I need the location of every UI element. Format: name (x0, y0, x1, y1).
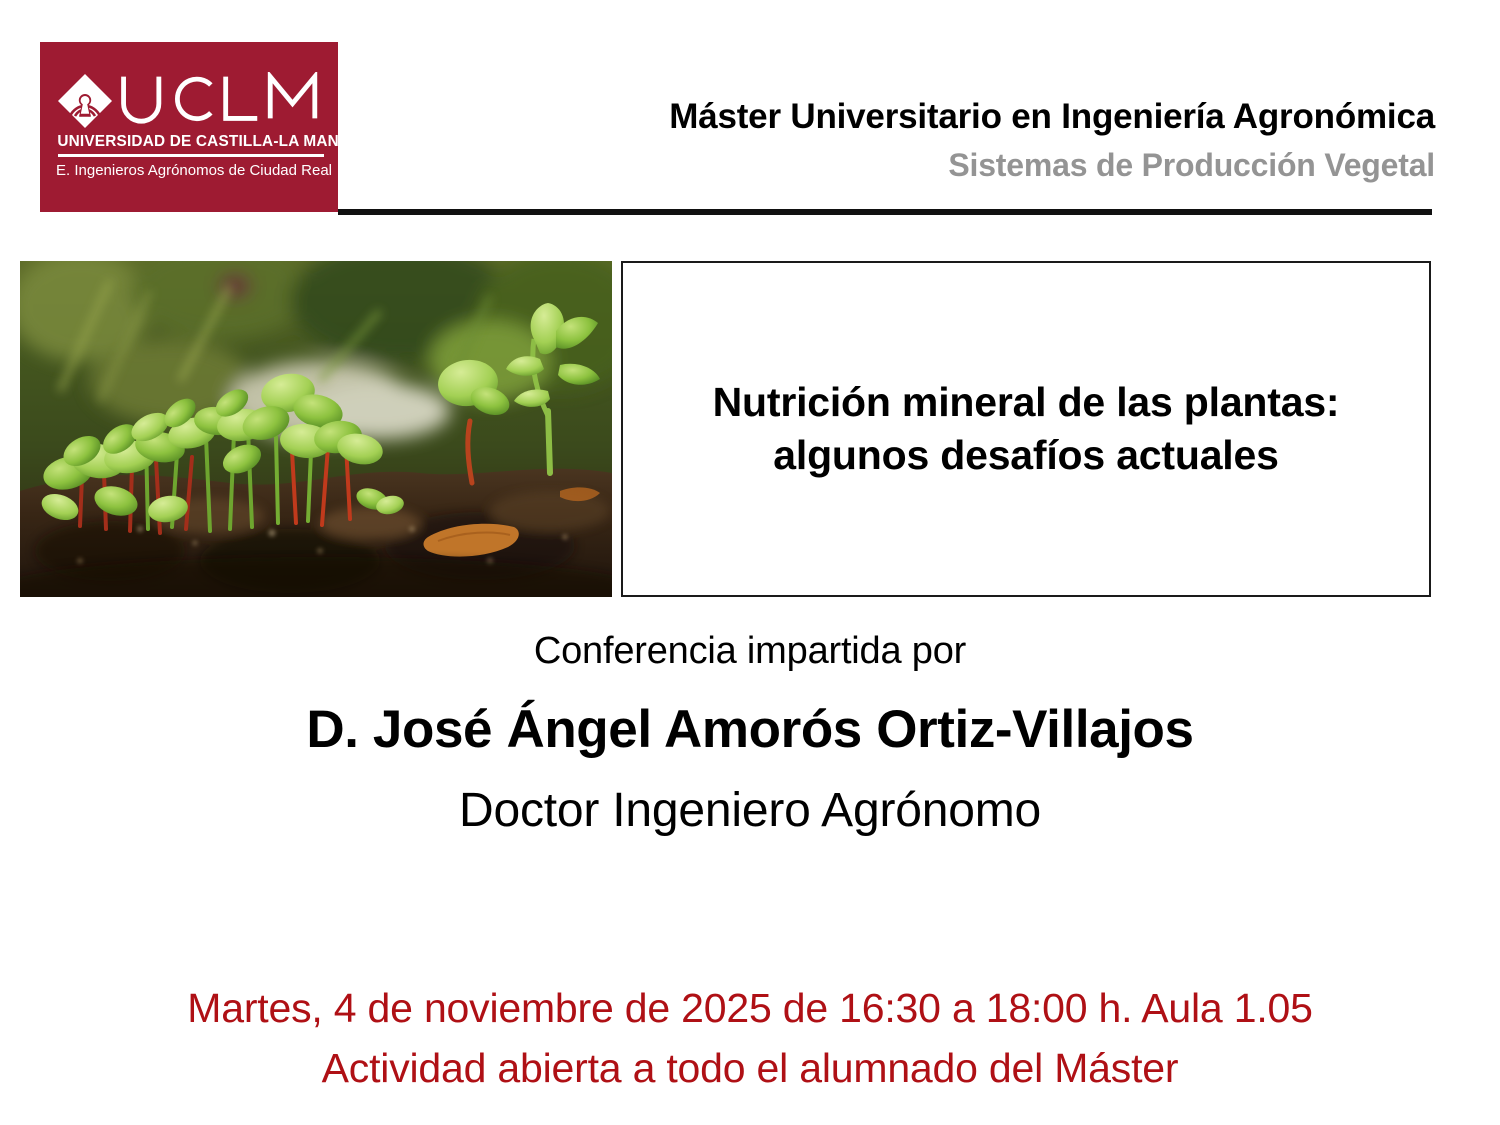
event-audience: Actividad abierta a todo el alumnado del… (0, 1034, 1500, 1094)
speaker-section: Conferencia impartida por D. José Ángel … (0, 625, 1500, 845)
uclm-wordmark-row (56, 70, 326, 132)
uclm-logo-divider (58, 154, 324, 157)
talk-title-box: Nutrición mineral de las plantas: alguno… (621, 261, 1431, 597)
speaker-role: Doctor Ingeniero Agrónomo (0, 771, 1500, 845)
uclm-diamond-emblem-icon (56, 72, 114, 130)
subject-title: Sistemas de Producción Vegetal (360, 138, 1435, 186)
speaker-name: D. José Ángel Amorós Ortiz-Villajos (0, 677, 1500, 771)
header-title-group: Máster Universitario en Ingeniería Agron… (360, 96, 1435, 186)
program-title: Máster Universitario en Ingeniería Agron… (360, 96, 1435, 138)
uclm-wordmark-letters (118, 72, 326, 130)
event-schedule: Martes, 4 de noviembre de 2025 de 16:30 … (0, 982, 1500, 1034)
uclm-logo-inner: UNIVERSIDAD DE CASTILLA-LA MANCHA E. Ing… (56, 70, 326, 181)
speaker-intro-label: Conferencia impartida por (0, 625, 1500, 677)
header-divider-rule (338, 209, 1432, 215)
uclm-logo-block: UNIVERSIDAD DE CASTILLA-LA MANCHA E. Ing… (40, 42, 338, 212)
poster-middle-section: Nutrición mineral de las plantas: alguno… (0, 259, 1500, 599)
talk-title: Nutrición mineral de las plantas: alguno… (623, 376, 1429, 482)
uclm-university-name: UNIVERSIDAD DE CASTILLA-LA MANCHA (57, 132, 324, 151)
uclm-school-name: E. Ingenieros Agrónomos de Ciudad Real (56, 160, 326, 181)
event-details-section: Martes, 4 de noviembre de 2025 de 16:30 … (0, 982, 1500, 1094)
poster-header: UNIVERSIDAD DE CASTILLA-LA MANCHA E. Ing… (0, 0, 1500, 232)
seedlings-photo (20, 261, 612, 597)
